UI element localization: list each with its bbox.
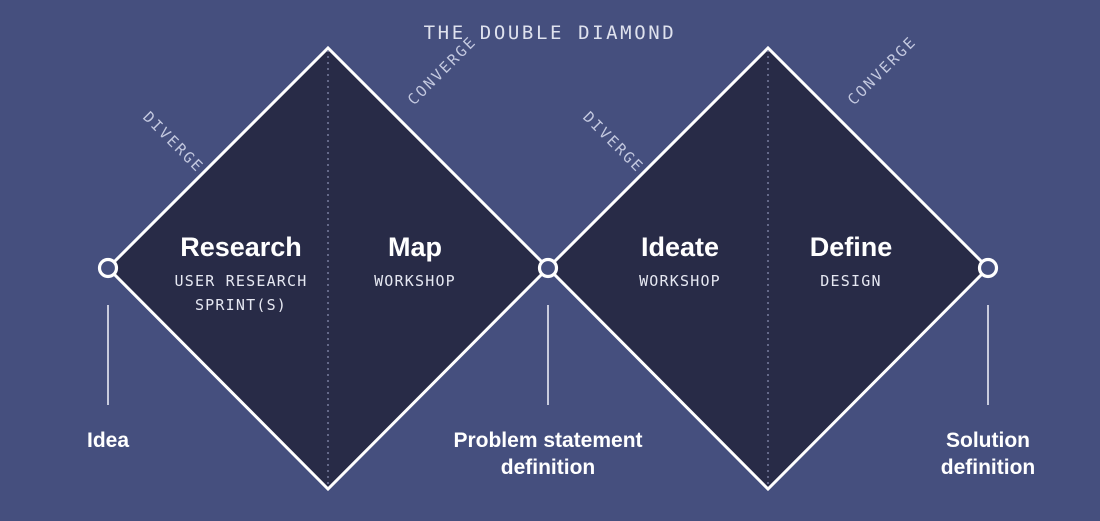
- node-circle-problem[interactable]: [540, 260, 557, 277]
- phase-define-name: Define: [746, 231, 956, 263]
- node-circle-solution[interactable]: [980, 260, 997, 277]
- node-label-solution-definition: Solution definition: [888, 427, 1088, 481]
- node-circle-idea[interactable]: [100, 260, 117, 277]
- diagram-title: THE DOUBLE DIAMOND: [0, 22, 1100, 44]
- phase-map-subtitle: WORKSHOP: [310, 269, 520, 293]
- phase-define-subtitle: DESIGN: [746, 269, 956, 293]
- phase-map-name: Map: [310, 231, 520, 263]
- node-label-idea: Idea: [8, 427, 208, 454]
- phase-map: Map WORKSHOP: [310, 231, 520, 293]
- node-label-problem-statement: Problem statement definition: [418, 427, 678, 481]
- double-diamond-diagram: THE DOUBLE DIAMOND DIVERGE CONVERGE DIVE…: [0, 0, 1100, 521]
- phase-define: Define DESIGN: [746, 231, 956, 293]
